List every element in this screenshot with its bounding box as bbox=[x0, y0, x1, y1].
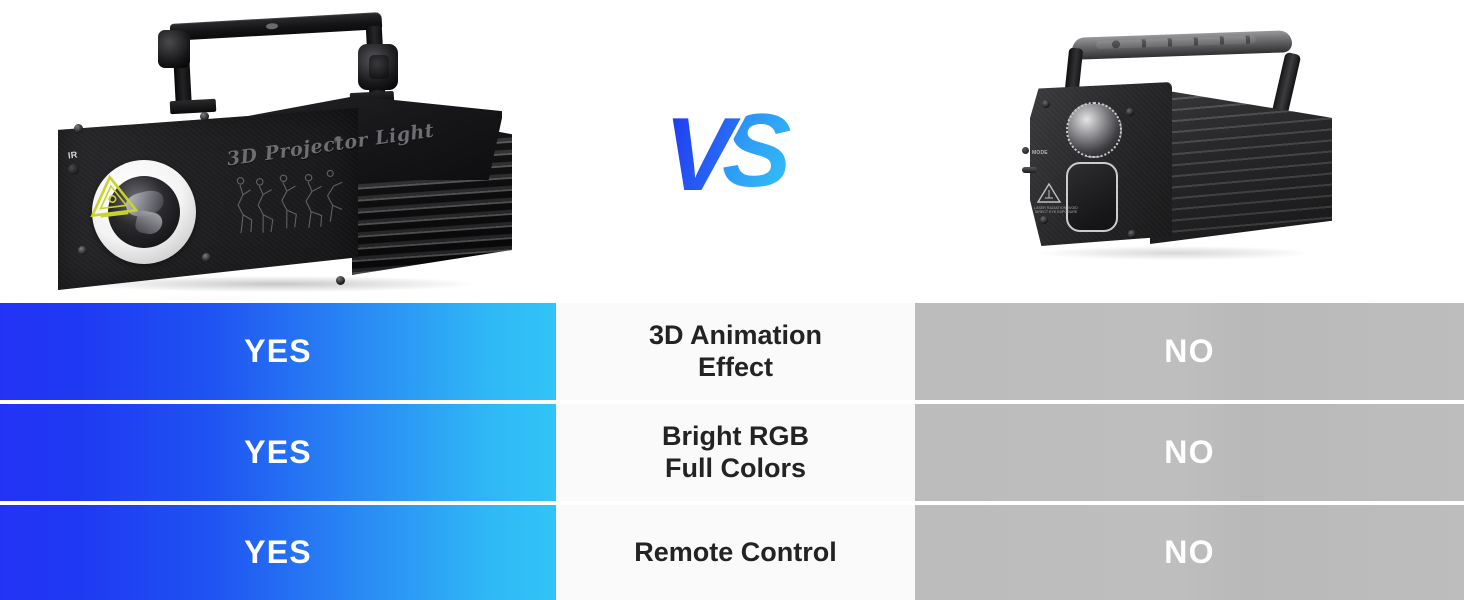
ir-receiver-label: IR bbox=[67, 149, 78, 160]
product-image-right: LASER RADIATION AVOID DIRECT EYE EXPOSUR… bbox=[1000, 34, 1360, 279]
panel-screw-icon bbox=[1126, 108, 1134, 116]
screw-icon bbox=[78, 246, 87, 255]
product-shadow bbox=[76, 276, 476, 292]
mounting-bracket-bar bbox=[170, 12, 383, 41]
housing-ribs bbox=[1150, 78, 1332, 244]
cell-no: NO bbox=[915, 404, 1464, 501]
feature-line-2: Full Colors bbox=[665, 453, 806, 483]
table-row: YES Remote Control NO bbox=[0, 505, 1464, 600]
cell-no: NO bbox=[915, 303, 1464, 400]
panel-screw-icon bbox=[1040, 216, 1048, 224]
feature-line-1: Bright RGB bbox=[662, 421, 809, 451]
feature-line-1: Remote Control bbox=[634, 537, 837, 568]
laser-warning-triangle-icon bbox=[85, 170, 140, 220]
screw-icon bbox=[200, 112, 209, 121]
laser-warning-text: LASER RADIATION AVOID DIRECT EYE EXPOSUR… bbox=[1028, 206, 1084, 215]
cell-feature: Bright RGB Full Colors bbox=[556, 404, 915, 501]
bracket-knob-right bbox=[358, 44, 398, 90]
mode-button-hole bbox=[1022, 147, 1029, 154]
versus-badge: S V bbox=[660, 92, 816, 200]
product-shadow bbox=[1040, 246, 1310, 260]
mode-label: MODE bbox=[1032, 150, 1048, 156]
cell-yes: YES bbox=[0, 404, 556, 501]
panel-screw-icon bbox=[1128, 230, 1136, 238]
cell-yes: YES bbox=[0, 505, 556, 600]
wavy-handle bbox=[1072, 30, 1293, 60]
feature-line-1: 3D Animation bbox=[649, 320, 822, 350]
dancing-figures-etching-icon bbox=[225, 160, 352, 244]
laser-warning-triangle-icon bbox=[1036, 182, 1062, 205]
crystal-ball-lens bbox=[1066, 102, 1122, 158]
screw-icon bbox=[202, 253, 211, 262]
table-row: YES Bright RGB Full Colors NO bbox=[0, 404, 1464, 501]
power-switch bbox=[1022, 167, 1037, 173]
bracket-knob-left bbox=[158, 30, 190, 68]
comparison-infographic: IR 3D Projector Light bbox=[0, 0, 1464, 600]
comparison-table: YES 3D Animation Effect NO YES Bright RG… bbox=[0, 303, 1464, 600]
svg-text:V: V bbox=[664, 97, 741, 200]
cell-yes: YES bbox=[0, 303, 556, 400]
product-image-left: IR 3D Projector Light bbox=[52, 8, 522, 293]
bracket-foot-left bbox=[170, 99, 217, 114]
laser-output-window bbox=[1066, 162, 1118, 232]
housing-side bbox=[1150, 78, 1332, 244]
panel-screw-icon bbox=[1042, 100, 1050, 108]
cell-feature: Remote Control bbox=[556, 505, 915, 600]
table-row: YES 3D Animation Effect NO bbox=[0, 303, 1464, 400]
versus-letter-v: V bbox=[664, 97, 741, 200]
cell-feature: 3D Animation Effect bbox=[556, 303, 915, 400]
feature-line-2: Effect bbox=[698, 352, 773, 382]
screw-icon bbox=[74, 124, 83, 133]
hero-product-area: IR 3D Projector Light bbox=[0, 0, 1464, 303]
cell-no: NO bbox=[915, 505, 1464, 600]
